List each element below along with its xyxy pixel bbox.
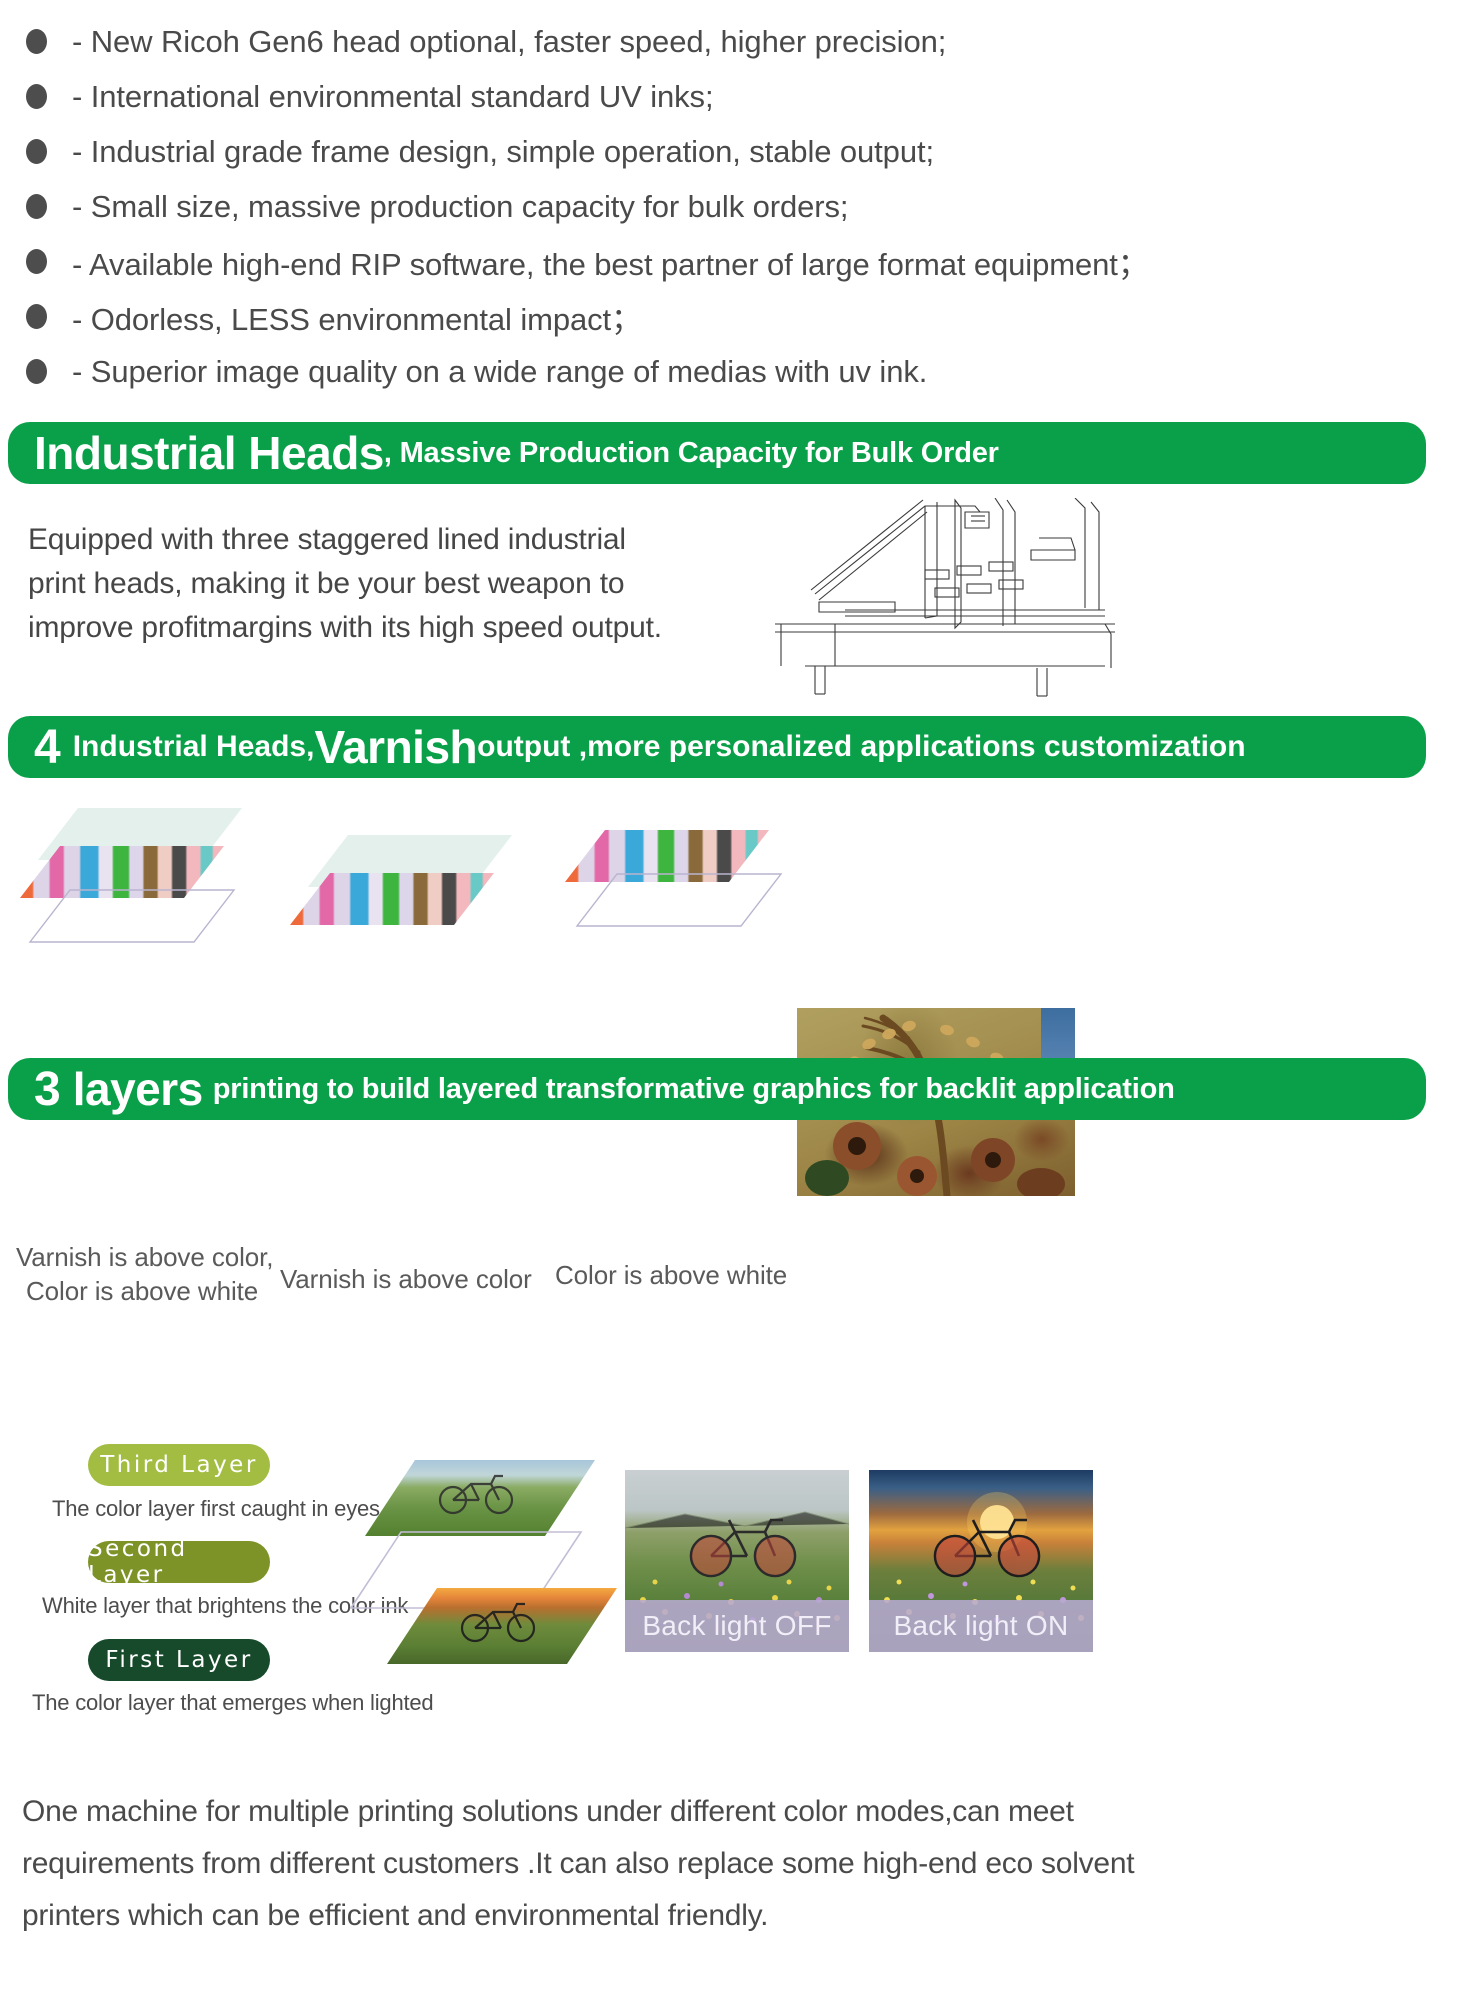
- layer-pill-third[interactable]: Third Layer: [88, 1444, 270, 1486]
- varnish-caption-1: Varnish is above color, Color is above w…: [16, 1240, 306, 1308]
- backlight-off-label: Back light OFF: [625, 1600, 849, 1652]
- description-line: improve profitmargins with its high spee…: [28, 606, 758, 650]
- feature-bullet-list: - New Ricoh Gen6 head optional, faster s…: [0, 14, 1484, 399]
- list-item: - Available high-end RIP software, the b…: [0, 234, 1484, 289]
- layer-pill-first[interactable]: First Layer: [88, 1639, 270, 1681]
- list-item: - Superior image quality on a wide range…: [0, 344, 1484, 399]
- banner-title: Industrial Heads: [34, 426, 384, 480]
- bullet-dot-icon: [26, 304, 47, 329]
- banner-highlight: Varnish: [314, 720, 477, 774]
- list-item: - Small size, massive production capacit…: [0, 179, 1484, 234]
- closing-paragraph: One machine for multiple printing soluti…: [22, 1786, 1462, 1942]
- printer-machine-line-drawing: [775, 498, 1115, 698]
- list-item: - New Ricoh Gen6 head optional, faster s…: [0, 14, 1484, 69]
- list-item: - Industrial grade frame design, simple …: [0, 124, 1484, 179]
- banner-tail: output ,more personalized applications c…: [477, 730, 1245, 764]
- banner-number: 4: [34, 720, 61, 775]
- banner-number: 3: [34, 1062, 61, 1117]
- feature-text: - Superior image quality on a wide range…: [72, 354, 927, 390]
- layer-sheet-top: [365, 1460, 595, 1536]
- feature-text: - International environmental standard U…: [72, 79, 713, 115]
- banner-tail: printing to build layered transformative…: [213, 1073, 1175, 1106]
- paragraph-line: requirements from different customers .I…: [22, 1838, 1462, 1890]
- varnish-caption-3: Color is above white: [555, 1258, 845, 1292]
- banner-lead: Industrial Heads,: [73, 730, 315, 764]
- bullet-dot-icon: [26, 29, 47, 54]
- bullet-dot-icon: [26, 194, 47, 219]
- layered-bike-diagram: [345, 1460, 655, 1720]
- section-banner-industrial-heads: Industrial Heads , Massive Production Ca…: [8, 422, 1426, 484]
- layer-caption-third: The color layer first caught in eyes: [52, 1496, 380, 1522]
- caption-line: Color is above white: [16, 1274, 306, 1308]
- description-line: Equipped with three staggered lined indu…: [28, 518, 758, 562]
- caption-line: Varnish is above color,: [16, 1240, 306, 1274]
- layer-sheet-bottom: [387, 1588, 617, 1664]
- backlight-on-label: Back light ON: [869, 1600, 1093, 1652]
- varnish-stack-diagram-2: [280, 835, 580, 1015]
- paragraph-line: One machine for multiple printing soluti…: [22, 1786, 1462, 1838]
- backlight-on-photo: Back light ON: [869, 1470, 1093, 1652]
- bullet-dot-icon: [26, 139, 47, 164]
- banner-subtitle: , Massive Production Capacity for Bulk O…: [384, 437, 999, 470]
- varnish-stack-diagram-3: [545, 830, 845, 1010]
- description-line: print heads, making it be your best weap…: [28, 562, 758, 606]
- list-item: - International environmental standard U…: [0, 69, 1484, 124]
- list-item: - Odorless, LESS environmental impact；: [0, 289, 1484, 344]
- feature-text: - Available high-end RIP software, the b…: [72, 239, 1149, 284]
- product-feature-page: - New Ricoh Gen6 head optional, faster s…: [0, 0, 1484, 2016]
- bullet-dot-icon: [26, 249, 47, 274]
- section-banner-varnish: 4 Industrial Heads, Varnish output ,more…: [8, 716, 1426, 778]
- feature-text: - Industrial grade frame design, simple …: [72, 134, 934, 170]
- bullet-dot-icon: [26, 359, 47, 384]
- varnish-mode-diagrams: [0, 800, 1484, 1030]
- varnish-caption-2: Varnish is above color: [280, 1262, 570, 1296]
- feature-text: - New Ricoh Gen6 head optional, faster s…: [72, 24, 946, 60]
- feature-text: - Small size, massive production capacit…: [72, 189, 848, 225]
- feature-text: - Odorless, LESS environmental impact；: [72, 294, 642, 339]
- bullet-dot-icon: [26, 84, 47, 109]
- layer-pill-second[interactable]: Second Layer: [88, 1541, 270, 1583]
- industrial-heads-description: Equipped with three staggered lined indu…: [28, 518, 758, 650]
- banner-word: layers: [73, 1062, 203, 1116]
- section-banner-three-layers: 3 layers printing to build layered trans…: [8, 1058, 1426, 1120]
- backlight-off-photo: Back light OFF: [625, 1470, 849, 1652]
- varnish-stack-diagram-1: [10, 808, 310, 988]
- paragraph-line: printers which can be efficient and envi…: [22, 1890, 1462, 1942]
